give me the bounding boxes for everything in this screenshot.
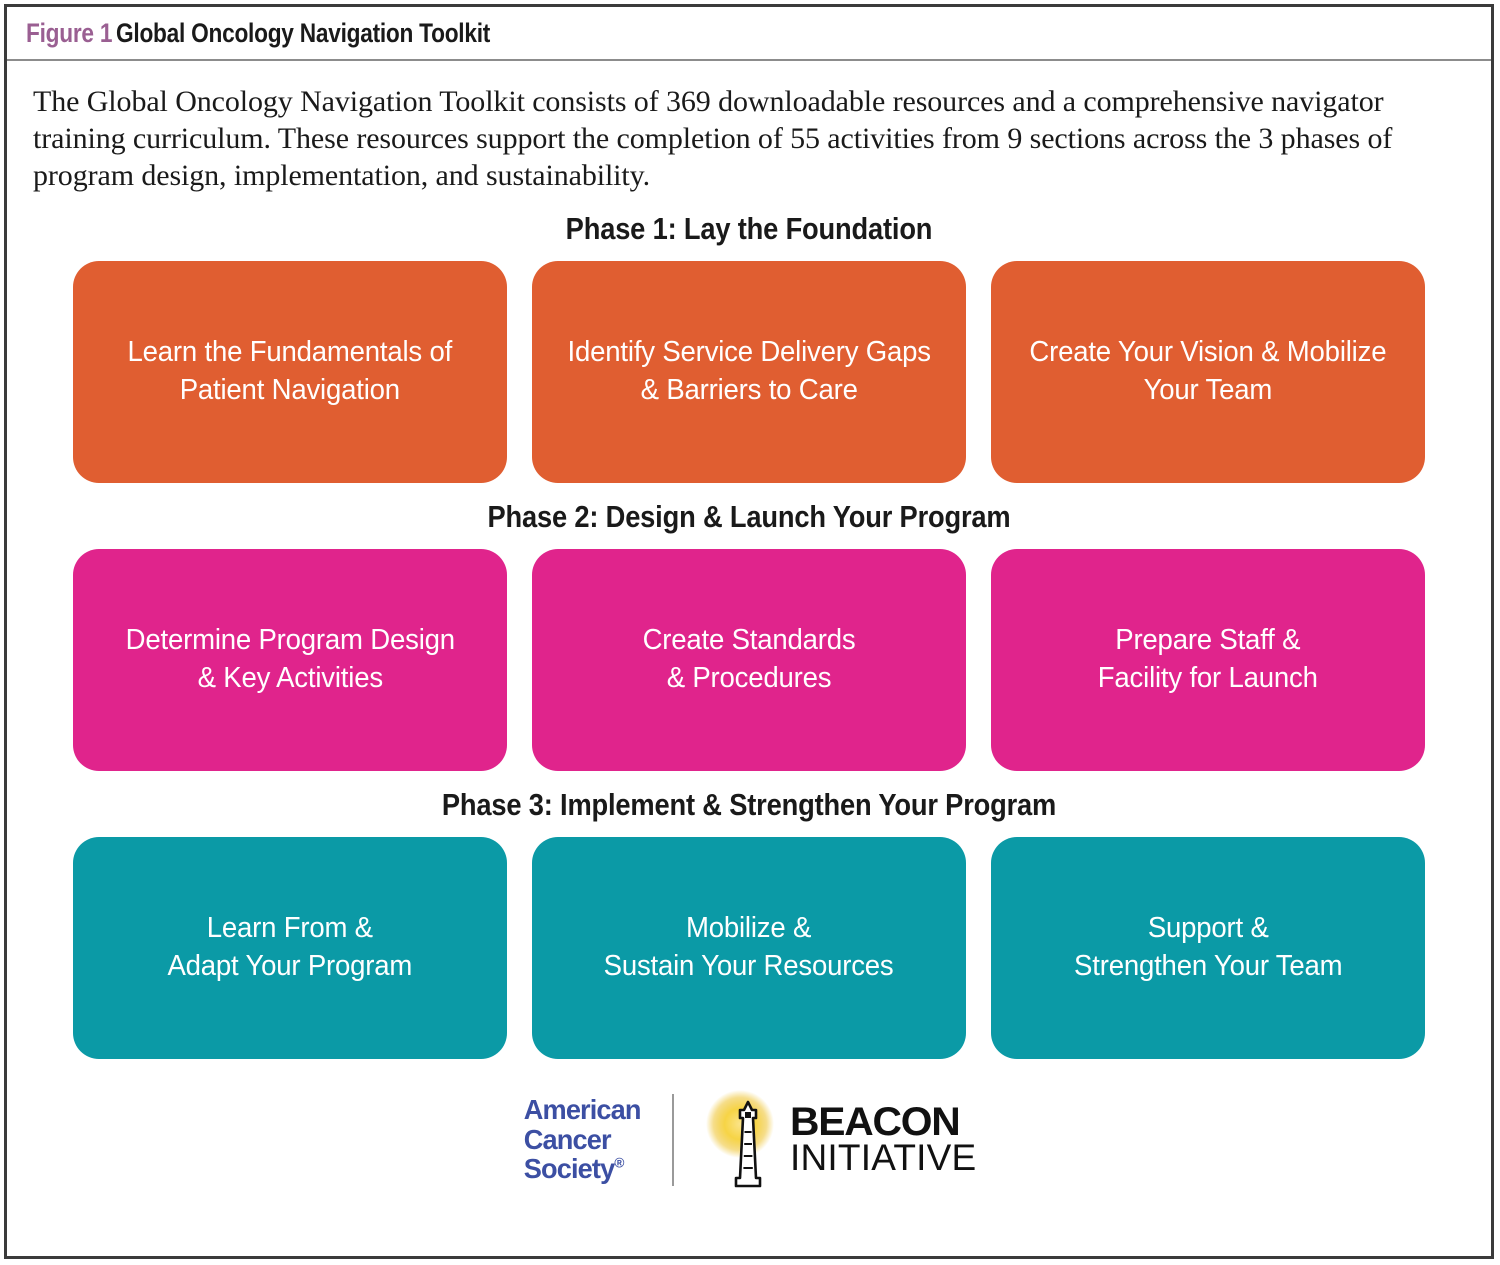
acs-logo-line-1: American: [523, 1095, 640, 1125]
beacon-wordmark: BEACON INITIATIVE: [790, 1104, 976, 1175]
phase-3-card-row: Learn From & Adapt Your Program Mobilize…: [7, 837, 1491, 1059]
logo-divider: [672, 1094, 674, 1186]
phase-3-card-1-label: Learn From & Adapt Your Program: [168, 910, 413, 984]
phase-2-card-2[interactable]: Create Standards & Procedures: [532, 549, 966, 771]
figure-header: Figure 1 Global Oncology Navigation Tool…: [7, 7, 1491, 61]
phase-3-card-1[interactable]: Learn From & Adapt Your Program: [73, 837, 507, 1059]
figure-label: Figure 1: [26, 18, 112, 49]
lighthouse-icon: [704, 1088, 786, 1192]
beacon-initiative-logo: BEACON INITIATIVE: [704, 1088, 976, 1192]
phase-3-card-3[interactable]: Support & Strengthen Your Team: [991, 837, 1425, 1059]
phase-heading-1: Phase 1: Lay the Foundation: [96, 211, 1402, 247]
phase-section-1: Phase 1: Lay the Foundation Learn the Fu…: [7, 211, 1491, 483]
figure-container: Figure 1 Global Oncology Navigation Tool…: [4, 4, 1494, 1259]
phase-3-card-2-label: Mobilize & Sustain Your Resources: [604, 910, 894, 984]
phase-1-card-2[interactable]: Identify Service Delivery Gaps & Barrier…: [532, 261, 966, 483]
acs-logo-line-3-text: Society: [523, 1153, 614, 1184]
phase-heading-2: Phase 2: Design & Launch Your Program: [96, 499, 1402, 535]
phase-1-card-2-label: Identify Service Delivery Gaps & Barrier…: [567, 334, 930, 408]
beacon-logo-line-2: INITIATIVE: [790, 1141, 976, 1175]
phase-3-card-2[interactable]: Mobilize & Sustain Your Resources: [532, 837, 966, 1059]
phase-1-card-3-label: Create Your Vision & Mobilize Your Team: [1030, 334, 1387, 408]
figure-title: Global Oncology Navigation Toolkit: [116, 18, 490, 49]
phase-1-card-1-label: Learn the Fundamentals of Patient Naviga…: [128, 334, 453, 408]
phase-section-3: Phase 3: Implement & Strengthen Your Pro…: [7, 787, 1491, 1059]
phase-heading-3: Phase 3: Implement & Strengthen Your Pro…: [96, 787, 1402, 823]
acs-trademark-symbol: ®: [614, 1155, 623, 1171]
phase-1-card-row: Learn the Fundamentals of Patient Naviga…: [7, 261, 1491, 483]
figure-caption: The Global Oncology Navigation Toolkit c…: [33, 83, 1465, 195]
phase-2-card-2-label: Create Standards & Procedures: [643, 622, 856, 696]
logo-strip: American Cancer Society®: [7, 1085, 1491, 1195]
phase-2-card-1-label: Determine Program Design & Key Activitie…: [125, 622, 454, 696]
phase-3-card-3-label: Support & Strengthen Your Team: [1074, 910, 1342, 984]
phase-1-card-1[interactable]: Learn the Fundamentals of Patient Naviga…: [73, 261, 507, 483]
phase-2-card-3-label: Prepare Staff & Facility for Launch: [1098, 622, 1318, 696]
beacon-logo-line-1: BEACON: [790, 1104, 980, 1141]
phase-1-card-3[interactable]: Create Your Vision & Mobilize Your Team: [991, 261, 1425, 483]
phase-2-card-3[interactable]: Prepare Staff & Facility for Launch: [991, 549, 1425, 771]
american-cancer-society-logo: American Cancer Society®: [523, 1095, 640, 1184]
phase-section-2: Phase 2: Design & Launch Your Program De…: [7, 499, 1491, 771]
phase-2-card-row: Determine Program Design & Key Activitie…: [7, 549, 1491, 771]
acs-logo-line-2: Cancer: [523, 1125, 640, 1155]
phase-2-card-1[interactable]: Determine Program Design & Key Activitie…: [73, 549, 507, 771]
acs-logo-line-3: Society®: [523, 1154, 640, 1184]
